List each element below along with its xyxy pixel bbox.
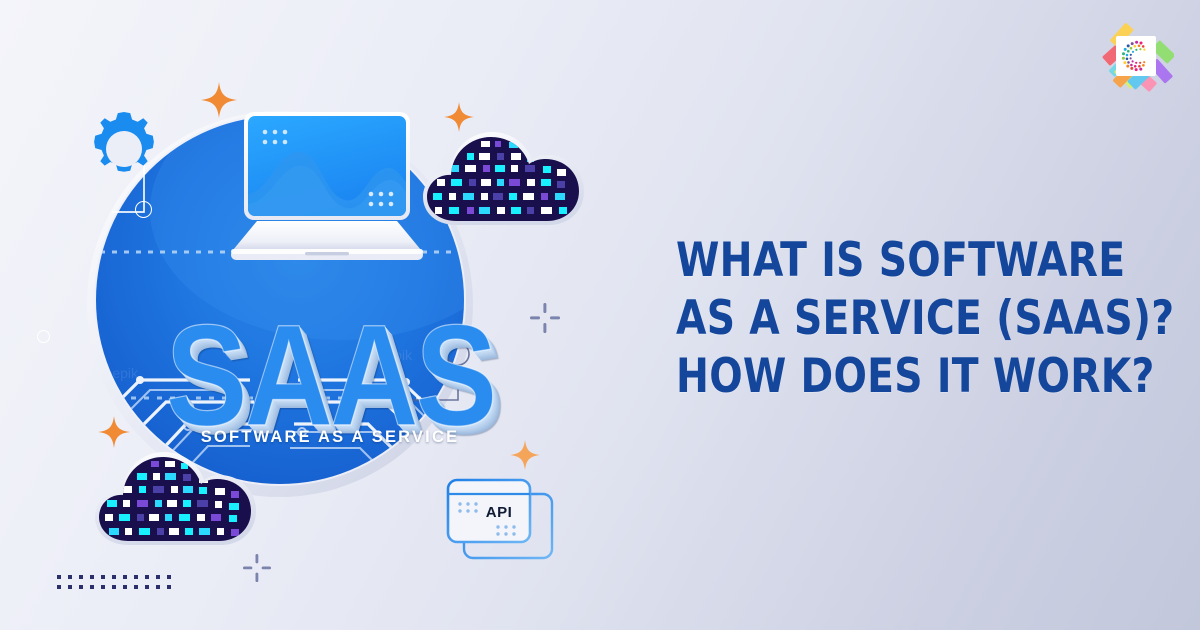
ring-small-left (37, 330, 50, 343)
sparkle-icon (510, 440, 540, 470)
brand-logo[interactable] (1098, 18, 1174, 94)
sparkle-icon (201, 82, 237, 118)
data-cloud-top (423, 125, 588, 235)
headline-line-1: WHAT IS SOFTWARE (676, 232, 1122, 290)
sparkle-icon (98, 416, 130, 448)
plus-mark (530, 303, 560, 333)
gear-icon (85, 110, 163, 188)
data-cloud-bottom (95, 445, 260, 555)
sparkle-icon (444, 102, 474, 132)
api-label: API (464, 504, 534, 521)
ring-small-top (135, 201, 152, 218)
poster-canvas: freepik freepik freepik freepik SAAS SOF… (0, 0, 1200, 630)
page-title: WHAT IS SOFTWARE AS A SERVICE (SAAS)? HO… (676, 232, 1122, 406)
saas-illustration: freepik freepik freepik freepik SAAS SOF… (40, 60, 600, 620)
dot-matrix (55, 565, 175, 597)
plus-mark (243, 554, 271, 582)
saas-wordmark: SAAS (132, 304, 527, 448)
headline-line-3: HOW DOES IT WORK? (676, 348, 1122, 406)
headline-line-2: AS A SERVICE (SAAS)? (676, 290, 1122, 348)
laptop (227, 108, 427, 273)
